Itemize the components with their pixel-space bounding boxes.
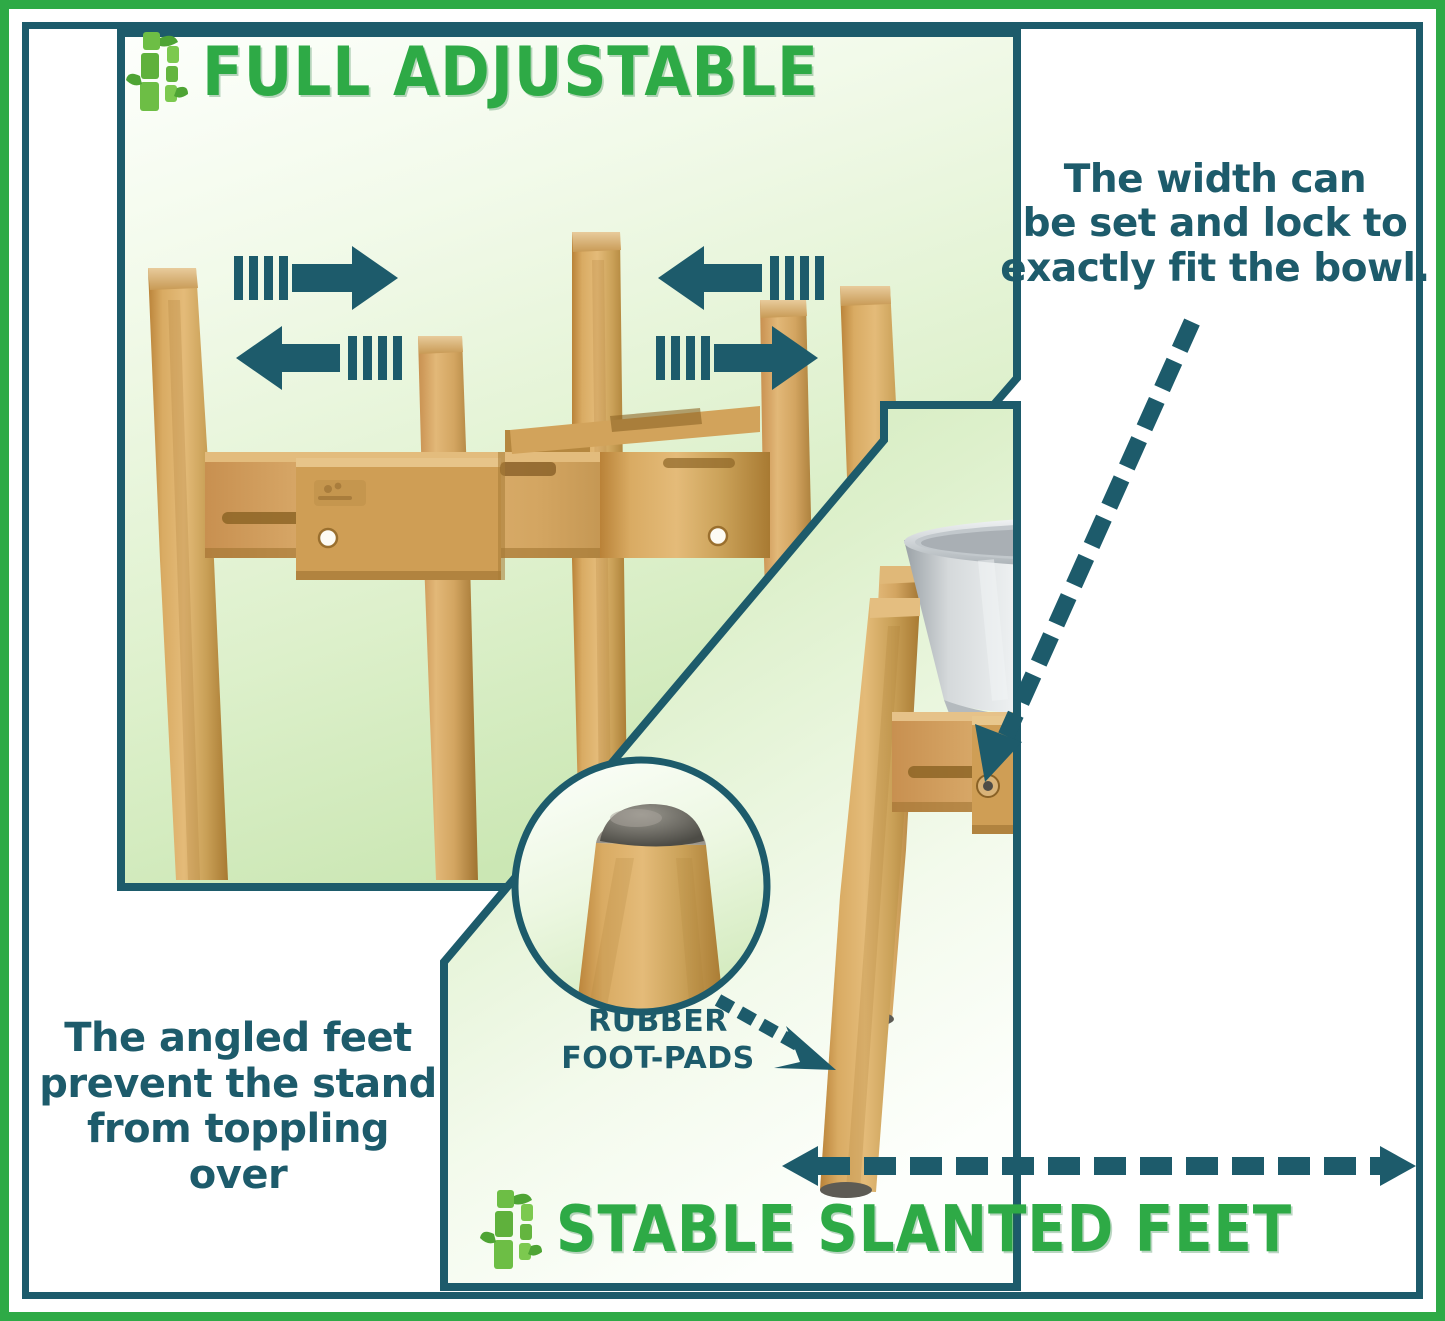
banner-bottom-label: STABLE SLANTED FEET: [556, 1193, 1292, 1267]
dashed-arrow-to-lock-screw: [975, 322, 1192, 782]
callout-width-line-1: The width can: [990, 158, 1440, 202]
callout-rubber-foot-pads: RUBBER FOOT-PADS: [548, 1004, 768, 1077]
callout-angled-feet: The angled feet prevent the stand from t…: [28, 1016, 448, 1198]
infographic-page: FULL ADJUSTABLE STABLE SLANTED FEET The …: [0, 0, 1445, 1321]
banner-top-label: FULL ADJUSTABLE: [202, 33, 819, 112]
callout-width-line-3: exactly fit the bowl.: [990, 247, 1440, 291]
banner-full-adjustable: FULL ADJUSTABLE: [126, 30, 903, 114]
arrow-left-bottom-left: [236, 326, 402, 390]
callout-feet-line-1: The angled feet: [28, 1016, 448, 1062]
callout-feet-line-2: prevent the stand: [28, 1062, 448, 1108]
callout-feet-line-3: from toppling: [28, 1107, 448, 1153]
bamboo-icon: [126, 30, 188, 114]
banner-stable-slanted-feet: STABLE SLANTED FEET: [480, 1188, 1392, 1272]
callout-feet-line-4: over: [28, 1153, 448, 1199]
footpad-line-2: FOOT-PADS: [548, 1041, 768, 1078]
bamboo-icon: [480, 1188, 542, 1272]
callout-width-line-2: be set and lock to: [990, 202, 1440, 246]
arrow-right-top-left: [658, 246, 824, 310]
callout-width-lock: The width can be set and lock to exactly…: [990, 158, 1440, 291]
arrow-right-bottom-right: [656, 326, 818, 390]
footpad-line-1: RUBBER: [548, 1004, 768, 1041]
double-headed-width-arrow: [782, 1146, 1416, 1186]
arrow-left-top-right: [234, 246, 398, 310]
